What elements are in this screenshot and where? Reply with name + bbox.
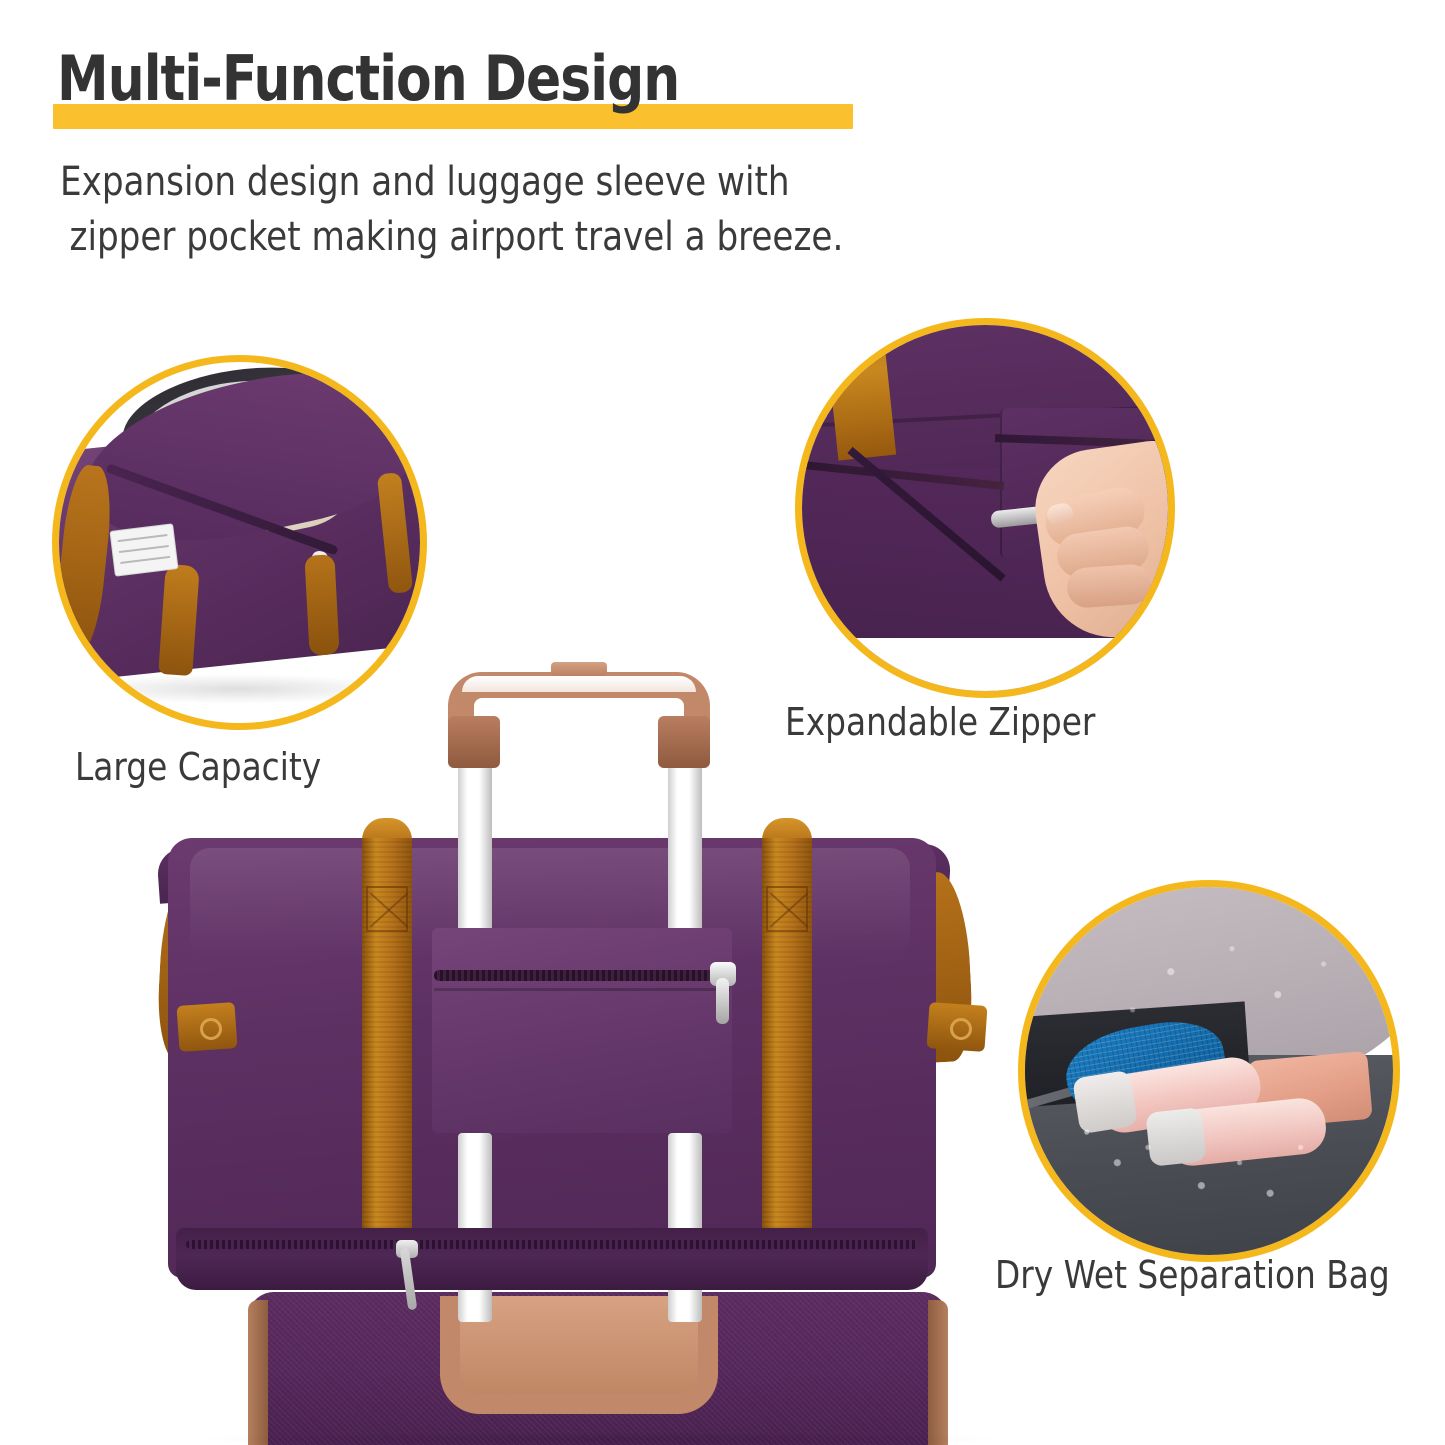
pocket-seam	[434, 988, 730, 991]
strap-stitching-right	[766, 886, 808, 932]
water-droplets	[1018, 880, 1400, 1262]
duffel-strap-foot-right	[304, 554, 339, 655]
callout-circle-expandable-zipper	[795, 318, 1175, 698]
strap-ring-left	[200, 1018, 222, 1040]
strap-ring-right	[950, 1018, 972, 1040]
callout-label-expandable-zipper: Expandable Zipper	[785, 700, 1095, 744]
callout-photo-expandable-zipper	[795, 318, 1175, 698]
photo-shadow	[72, 674, 402, 704]
suitcase-right-edge	[928, 1300, 948, 1445]
brand-label-tag	[109, 523, 178, 576]
front-zipper-pocket	[432, 928, 732, 1133]
pocket-zipper-pull	[716, 978, 729, 1024]
pocket-zipper-teeth	[434, 970, 730, 981]
white-background	[795, 638, 1175, 698]
suitcase-left-edge	[248, 1300, 268, 1445]
trolley-handle-button	[551, 662, 607, 676]
callout-label-dry-wet-separation: Dry Wet Separation Bag	[995, 1253, 1390, 1297]
bag-expansion-panel	[176, 1228, 928, 1290]
callout-circle-dry-wet-separation	[1018, 880, 1400, 1262]
callout-photo-large-capacity	[52, 355, 427, 730]
expansion-zipper-teeth	[186, 1240, 918, 1249]
product-feature-graphic: Multi-Function Design Expansion design a…	[0, 0, 1445, 1445]
callout-circle-large-capacity	[52, 355, 427, 730]
callout-photo-dry-wet-separation	[1018, 880, 1400, 1262]
finger-ring	[1066, 563, 1153, 609]
trolley-pole-right-front	[668, 762, 702, 932]
trolley-pole-left-front	[458, 762, 492, 932]
strap-stitching-left	[366, 886, 408, 932]
trolley-handle-gloss	[462, 676, 696, 692]
callout-label-large-capacity: Large Capacity	[75, 745, 321, 789]
trolley-handle-joint-left	[448, 716, 500, 768]
trolley-handle-joint-right	[658, 716, 710, 768]
ground-shadow	[200, 1432, 1000, 1445]
